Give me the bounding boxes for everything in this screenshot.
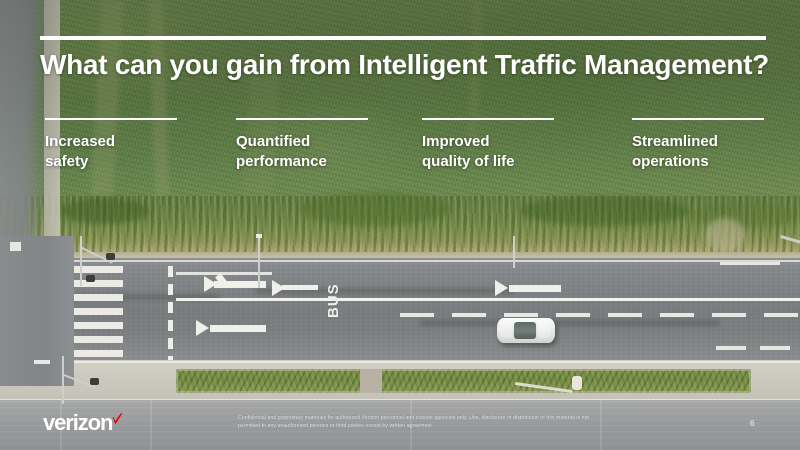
benefit-column-quantified-performance: Quantified performance: [236, 118, 388, 172]
column-label-line1: Increased: [45, 133, 115, 150]
legal-disclaimer: Confidential and proprietary materials f…: [238, 414, 598, 430]
column-label-line2: operations: [632, 153, 709, 170]
column-label-line2: quality of life: [422, 153, 515, 170]
column-label-line1: Improved: [422, 133, 490, 150]
verizon-wordmark: verizon: [43, 410, 112, 435]
column-label: Quantified performance: [236, 132, 388, 172]
title-rule: [40, 36, 766, 40]
column-rule: [632, 118, 764, 120]
column-label: Increased safety: [45, 132, 197, 172]
column-rule: [422, 118, 554, 120]
column-rule: [236, 118, 368, 120]
column-label-line2: performance: [236, 153, 327, 170]
column-label: Streamlined operations: [632, 132, 784, 172]
benefit-column-increased-safety: Increased safety: [45, 118, 197, 172]
page-number: 6: [750, 419, 754, 429]
column-label-line1: Quantified: [236, 133, 310, 150]
benefit-column-improved-quality-of-life: Improved quality of life: [422, 118, 574, 172]
column-label-line2: safety: [45, 153, 88, 170]
benefit-column-streamlined-operations: Streamlined operations: [632, 118, 784, 172]
verizon-check-icon: [112, 413, 123, 425]
slide: BUS: [0, 0, 800, 450]
column-label: Improved quality of life: [422, 132, 574, 172]
page-title: What can you gain from Intelligent Traff…: [40, 48, 780, 82]
column-rule: [45, 118, 177, 120]
verizon-logo: verizon: [43, 412, 123, 434]
slide-content: What can you gain from Intelligent Traff…: [0, 0, 800, 450]
column-label-line1: Streamlined: [632, 133, 718, 150]
